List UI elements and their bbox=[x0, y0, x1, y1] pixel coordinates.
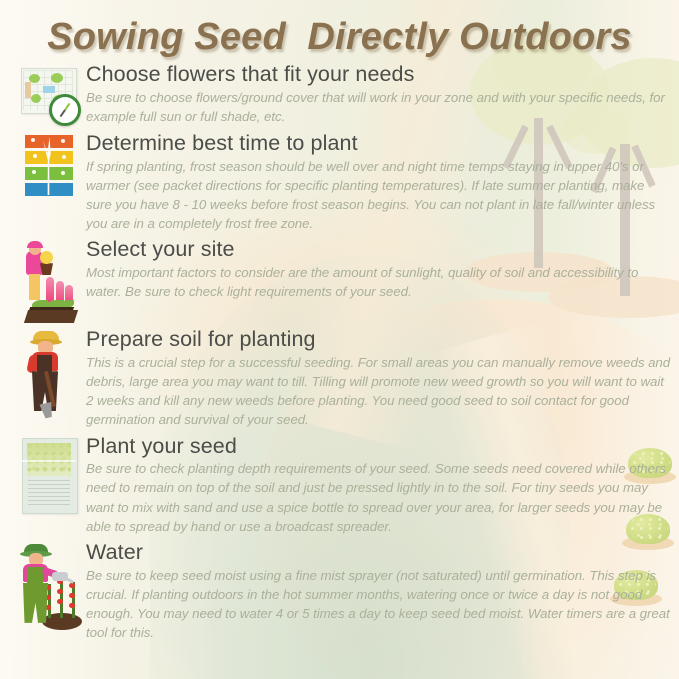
compass-needle bbox=[60, 103, 71, 117]
step-item-water: Water Be sure to keep seed moist using a… bbox=[0, 540, 679, 642]
step-heading: Determine best time to plant bbox=[86, 131, 673, 156]
planter-yellow-bloom bbox=[40, 251, 53, 264]
step-body: Be sure to choose flowers/ground cover t… bbox=[86, 88, 673, 126]
step-body: This is a crucial step for a successful … bbox=[86, 353, 673, 430]
packet-instructions-text bbox=[28, 480, 70, 508]
step-heading: Select your site bbox=[86, 237, 673, 262]
plan-path bbox=[25, 82, 31, 98]
compass-icon bbox=[49, 94, 81, 126]
plan-plant-blob bbox=[51, 73, 63, 83]
step-body: If spring planting, frost season should … bbox=[86, 157, 673, 234]
planter-tray bbox=[24, 310, 78, 323]
step-icon-container bbox=[12, 327, 86, 419]
step-text-container: Water Be sure to keep seed moist using a… bbox=[86, 540, 679, 642]
gardener-shovel-icon bbox=[21, 331, 77, 419]
step-item-choose-flowers: Choose flowers that fit your needs Be su… bbox=[0, 62, 679, 126]
season-leaf-dot bbox=[61, 171, 65, 175]
step-heading: Plant your seed bbox=[86, 434, 673, 459]
watering-can-spout bbox=[62, 575, 74, 583]
plant-bud bbox=[69, 603, 75, 608]
infographic-poster: Sowing Seed Directly Outdoors bbox=[0, 0, 679, 679]
season-leaf-dot bbox=[62, 155, 66, 159]
plant-bud bbox=[69, 593, 75, 598]
seed-packet-icon bbox=[22, 438, 76, 512]
planter-person-hat bbox=[27, 241, 43, 248]
plant-bud bbox=[57, 589, 63, 594]
plan-water-feature bbox=[43, 86, 55, 93]
step-heading: Water bbox=[86, 540, 673, 565]
season-leaf-dot bbox=[61, 139, 65, 143]
step-body: Be sure to check planting depth requirem… bbox=[86, 459, 673, 536]
step-text-container: Choose flowers that fit your needs Be su… bbox=[86, 62, 679, 126]
step-text-container: Prepare soil for planting This is a cruc… bbox=[86, 327, 679, 429]
step-item-plant-seed: Plant your seed Be sure to check plantin… bbox=[0, 434, 679, 536]
step-icon-container bbox=[12, 540, 86, 630]
step-icon-container bbox=[12, 434, 86, 512]
step-text-container: Plant your seed Be sure to check plantin… bbox=[86, 434, 679, 536]
planter-person-legs bbox=[29, 274, 40, 300]
season-leaf-dot bbox=[31, 138, 35, 142]
four-seasons-icon bbox=[25, 135, 73, 197]
watering-gardener-icon bbox=[16, 544, 82, 630]
step-item-prepare-soil: Prepare soil for planting This is a cruc… bbox=[0, 327, 679, 429]
step-icon-container bbox=[12, 131, 86, 197]
plant-stalk bbox=[60, 578, 63, 618]
step-heading: Prepare soil for planting bbox=[86, 327, 673, 352]
gardener-overalls-pants bbox=[23, 583, 48, 623]
step-body: Most important factors to consider are t… bbox=[86, 263, 673, 301]
step-body: Be sure to keep seed moist using a fine … bbox=[86, 566, 673, 643]
plan-plant-blob bbox=[31, 94, 41, 103]
season-leaf-dot bbox=[32, 170, 36, 174]
garden-plan-compass-icon bbox=[19, 66, 79, 122]
plant-bud bbox=[57, 599, 63, 604]
step-text-container: Select your site Most important factors … bbox=[86, 237, 679, 301]
page-title: Sowing Seed Directly Outdoors bbox=[0, 16, 679, 59]
flower-planter-icon bbox=[20, 241, 78, 323]
season-leaf-dot bbox=[33, 154, 37, 158]
step-item-select-site: Select your site Most important factors … bbox=[0, 237, 679, 323]
step-heading: Choose flowers that fit your needs bbox=[86, 62, 673, 87]
step-icon-container bbox=[12, 62, 86, 122]
step-item-best-time: Determine best time to plant If spring p… bbox=[0, 131, 679, 233]
packet-fold bbox=[22, 460, 76, 462]
steps-list: Choose flowers that fit your needs Be su… bbox=[0, 62, 679, 642]
step-text-container: Determine best time to plant If spring p… bbox=[86, 131, 679, 233]
step-icon-container bbox=[12, 237, 86, 323]
